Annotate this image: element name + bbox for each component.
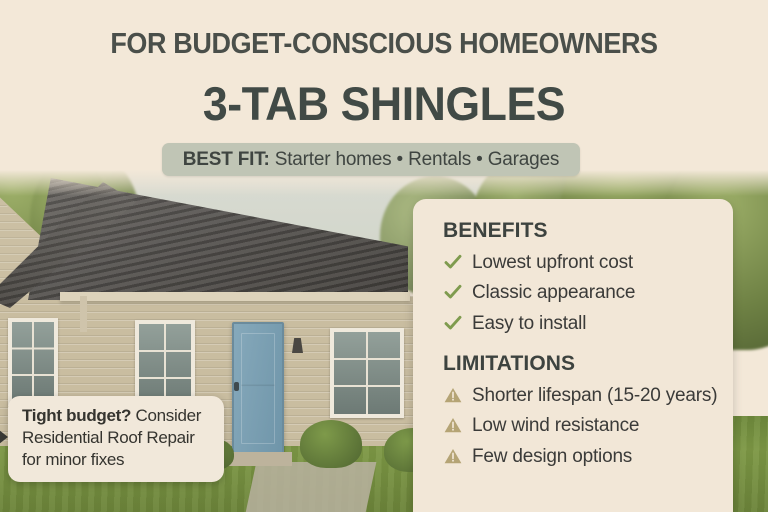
budget-callout: Tight budget? Consider Residential Roof …	[8, 396, 224, 482]
best-fit-badge: BEST FIT: Starter homes • Rentals • Gara…	[162, 143, 580, 176]
best-fit-label: BEST FIT:	[183, 149, 270, 170]
list-item: Lowest upfront cost	[443, 251, 711, 275]
warning-triangle-icon	[443, 445, 463, 467]
window	[330, 328, 404, 418]
front-door	[232, 322, 284, 458]
list-item: Low wind resistance	[443, 414, 711, 438]
check-icon	[443, 281, 463, 303]
callout-text: Tight budget? Consider Residential Roof …	[22, 405, 212, 471]
walkway	[244, 462, 377, 512]
limitation-text: Low wind resistance	[472, 414, 639, 438]
warning-triangle-icon	[443, 384, 463, 406]
benefits-heading: BENEFITS	[443, 219, 711, 243]
check-icon	[443, 251, 463, 273]
gutter	[60, 292, 410, 301]
benefit-text: Classic appearance	[472, 281, 635, 305]
warning-triangle-icon	[443, 414, 463, 436]
limitation-text: Shorter lifespan (15-20 years)	[472, 384, 717, 408]
door-knob	[234, 382, 239, 391]
best-fit-value: Starter homes • Rentals • Garages	[275, 149, 559, 170]
eyebrow-heading: FOR BUDGET-CONSCIOUS HOMEOWNERS	[27, 28, 741, 61]
callout-pointer-icon	[0, 426, 8, 448]
window	[8, 318, 58, 406]
details-panel: BENEFITS Lowest upfront cost Classic app…	[413, 199, 733, 512]
benefit-text: Lowest upfront cost	[472, 251, 633, 275]
limitation-text: Few design options	[472, 445, 632, 469]
list-item: Easy to install	[443, 312, 711, 336]
limitations-heading: LIMITATIONS	[443, 352, 711, 376]
shrub	[300, 420, 362, 468]
callout-lead: Tight budget?	[22, 406, 131, 425]
list-item: Few design options	[443, 445, 711, 469]
check-icon	[443, 312, 463, 334]
list-item: Shorter lifespan (15-20 years)	[443, 384, 711, 408]
list-item: Classic appearance	[443, 281, 711, 305]
downspout	[80, 296, 87, 332]
best-fit-text: BEST FIT: Starter homes • Rentals • Gara…	[183, 149, 559, 171]
benefit-text: Easy to install	[472, 312, 586, 336]
page-title: 3-TAB SHINGLES	[19, 76, 749, 131]
infographic-canvas: FOR BUDGET-CONSCIOUS HOMEOWNERS 3-TAB SH…	[0, 0, 768, 512]
